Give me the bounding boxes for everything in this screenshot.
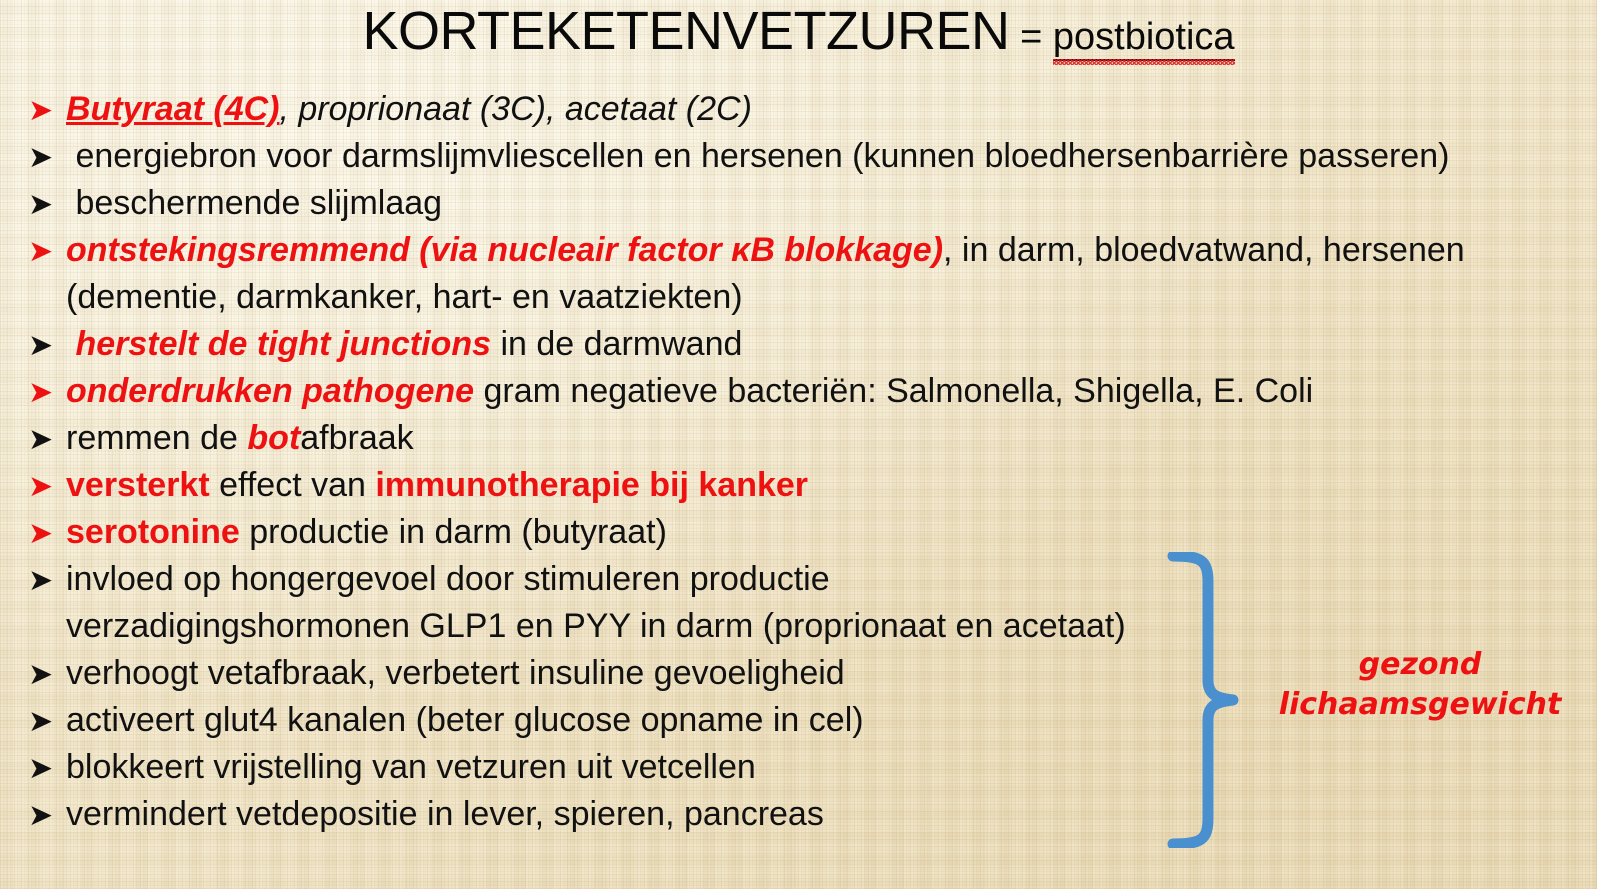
list-item-segment: (dementie, darmkanker, hart- en vaatziek…: [66, 278, 743, 316]
arrow-icon: ➤: [28, 510, 66, 557]
list-item: ➤onderdrukken pathogene gram negatieve b…: [28, 368, 1589, 415]
brace-caption: gezond lichaamsgewicht: [1250, 645, 1590, 725]
list-item: ➤serotonine productie in darm (butyraat): [28, 509, 1589, 556]
arrow-icon: ➤: [28, 322, 66, 369]
arrow-icon: ➤: [28, 134, 66, 181]
arrow-icon: ➤: [28, 181, 66, 228]
list-item-segment: serotonine: [66, 513, 240, 551]
list-item: ➤remmen de botafbraak: [28, 415, 1589, 462]
list-item: ➤ beschermende slijmlaag: [28, 180, 1589, 227]
list-item-segment: activeert glut4 kanalen (beter glucose o…: [66, 701, 864, 739]
arrow-icon: ➤: [28, 745, 66, 792]
page-title: KORTEKETENVETZUREN = postbiotica: [0, 2, 1597, 62]
list-item: ➤invloed op hongergevoel door stimuleren…: [28, 556, 1589, 603]
list-item-continuation: (dementie, darmkanker, hart- en vaatziek…: [28, 274, 1589, 321]
list-item: ➤blokkeert vrijstelling van vetzuren uit…: [28, 744, 1589, 791]
list-item-segment: effect van: [210, 466, 376, 504]
arrow-icon: ➤: [28, 698, 66, 745]
arrow-icon: ➤: [28, 463, 66, 510]
title-equals-sign: =: [1010, 16, 1053, 58]
arrow-icon: ➤: [28, 557, 66, 604]
list-item: ➤vermindert vetdepositie in lever, spier…: [28, 791, 1589, 838]
brace-caption-line-1: gezond: [1250, 645, 1590, 685]
list-item-segment: verhoogt vetafbraak, verbetert insuline …: [66, 654, 845, 692]
list-item-segment: versterkt: [66, 466, 210, 504]
list-item-segment: onderdrukken pathogene: [66, 372, 474, 410]
list-item-segment: , proprionaat (3C), acetaat (2C): [279, 90, 751, 128]
list-item-segment: afbraak: [300, 419, 413, 457]
brace-caption-line-2: lichaamsgewicht: [1250, 685, 1590, 725]
bullet-list: ➤Butyraat (4C), proprionaat (3C), acetaa…: [28, 86, 1589, 838]
title-subtitle-text: postbiotica: [1053, 16, 1235, 61]
right-curly-brace-icon: [1163, 552, 1241, 848]
arrow-icon: ➤: [28, 228, 66, 275]
list-item: ➤Butyraat (4C), proprionaat (3C), acetaa…: [28, 86, 1589, 133]
list-item-segment: ontstekingsremmend (via nucleair factor …: [66, 231, 943, 269]
list-item-segment: vermindert vetdepositie in lever, spiere…: [66, 795, 824, 833]
list-item-segment: gram negatieve bacteriën: Salmonella, Sh…: [474, 372, 1313, 410]
spellcheck-squiggle-underline: [1053, 59, 1235, 65]
list-item-segment: remmen de: [66, 419, 247, 457]
list-item-segment: beschermende slijmlaag: [66, 184, 442, 222]
title-subtitle-wrap: postbiotica: [1053, 16, 1235, 59]
list-item-segment: bot: [247, 419, 300, 457]
list-item-segment: immunotherapie bij kanker: [375, 466, 808, 504]
arrow-icon: ➤: [28, 416, 66, 463]
list-item-segment: herstelt de tight junctions: [66, 325, 491, 363]
title-main-text: KORTEKETENVETZUREN: [362, 1, 1009, 61]
arrow-icon: ➤: [28, 792, 66, 839]
arrow-icon: ➤: [28, 369, 66, 416]
list-item-segment: energiebron voor darmslijmvliescellen en…: [66, 137, 1449, 175]
list-item-segment: in de darmwand: [491, 325, 742, 363]
list-item-continuation: verzadigingshormonen GLP1 en PYY in darm…: [28, 603, 1589, 650]
list-item: ➤versterkt effect van immunotherapie bij…: [28, 462, 1589, 509]
list-item-segment: verzadigingshormonen GLP1 en PYY in darm…: [66, 607, 1126, 645]
list-item: ➤ energiebron voor darmslijmvliescellen …: [28, 133, 1589, 180]
slide-canvas: KORTEKETENVETZUREN = postbiotica ➤Butyra…: [0, 0, 1597, 889]
list-item-segment: blokkeert vrijstelling van vetzuren uit …: [66, 748, 756, 786]
list-item-segment: productie in darm (butyraat): [240, 513, 667, 551]
list-item: ➤ herstelt de tight junctions in de darm…: [28, 321, 1589, 368]
arrow-icon: ➤: [28, 651, 66, 698]
list-item-segment: Butyraat (4C): [66, 90, 279, 128]
list-item: ➤ontstekingsremmend (via nucleair factor…: [28, 227, 1589, 274]
list-item-segment: , in darm, bloedvatwand, hersenen: [943, 231, 1465, 269]
arrow-icon: ➤: [28, 87, 66, 134]
list-item-segment: invloed op hongergevoel door stimuleren …: [66, 560, 830, 598]
